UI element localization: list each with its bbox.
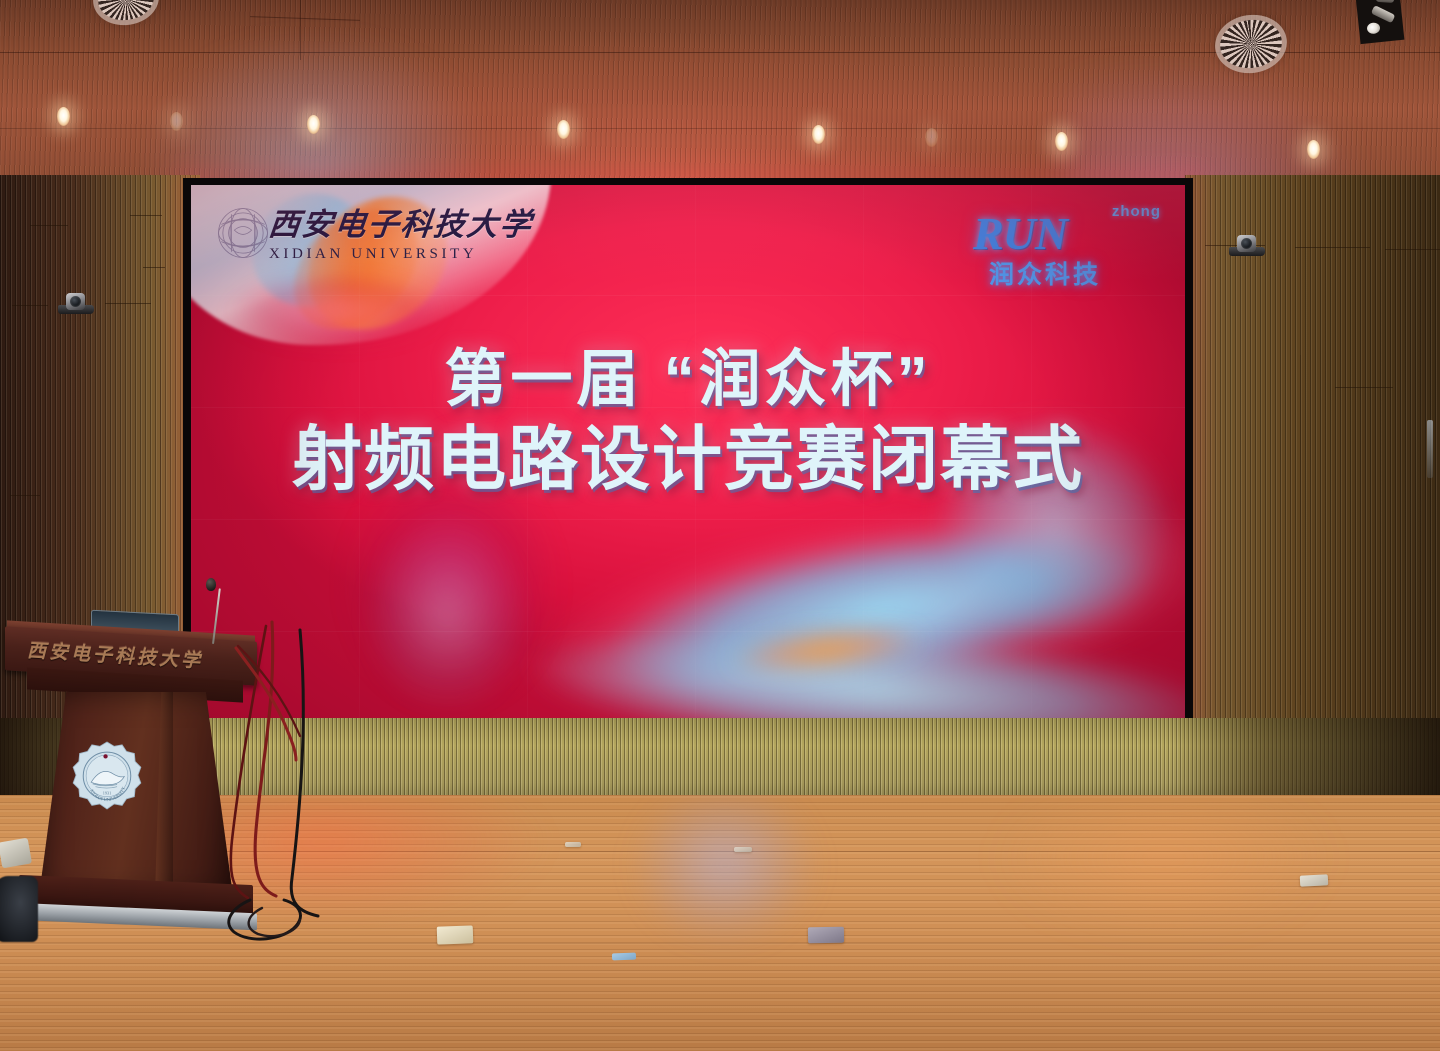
wall-seam — [1421, 175, 1422, 795]
wall-slat-texture — [1185, 175, 1440, 795]
coiled-cable — [249, 908, 300, 936]
ceiling-downlight — [557, 120, 570, 139]
ceiling-downlight — [1307, 140, 1320, 159]
auditorium-photo: 西安电子科技大学 XIDIAN UNIVERSITY RUN zhong 润众科… — [0, 0, 1440, 1051]
camera-lens-icon — [1241, 238, 1252, 249]
red-audio-cable — [236, 648, 296, 760]
foreground-dark-object — [0, 876, 38, 942]
ceiling — [0, 0, 1440, 182]
screen-drop-cable — [230, 640, 400, 760]
ceiling-downlight — [307, 115, 320, 134]
floor-reflection-blue — [560, 795, 890, 985]
wall-seam — [1335, 387, 1393, 388]
ceiling-downlight — [170, 112, 183, 131]
coiled-cable — [229, 900, 301, 939]
camera-lens-icon — [70, 296, 81, 307]
ceiling-downlight — [57, 107, 70, 126]
ceiling-downlight — [1055, 132, 1068, 151]
wall-seam — [12, 305, 48, 306]
wall-seam — [1385, 249, 1440, 250]
foreground-object — [0, 838, 32, 869]
spotlight-lamp — [1366, 22, 1380, 34]
wall-right — [1185, 175, 1440, 795]
red-audio-cable — [238, 646, 300, 736]
wall-seam — [1300, 355, 1301, 695]
wall-light-strip — [1427, 420, 1433, 478]
tape-marker — [734, 847, 752, 852]
stage-cables — [0, 560, 520, 980]
wall-seam — [105, 303, 151, 304]
wall-seam — [10, 495, 40, 496]
spotlight-arm — [1371, 5, 1396, 23]
ceiling-light-spill-right — [1060, 70, 1350, 182]
ptz-camera-left — [58, 293, 94, 319]
ceiling-downlight — [925, 128, 938, 147]
wall-seam — [1295, 247, 1370, 248]
ptz-camera-right — [1229, 235, 1265, 261]
wall-seam — [143, 267, 165, 268]
wall-seam — [30, 225, 68, 226]
ceiling-spotlight-slot — [1356, 0, 1405, 44]
ceiling-light-spill-left — [150, 40, 480, 182]
floor-reflection-warm — [980, 795, 1440, 1005]
floor-outlet-box — [1300, 874, 1329, 886]
wall-seam — [130, 215, 162, 216]
floor-outlet-box — [808, 927, 844, 944]
spotlight-arm — [1376, 0, 1394, 3]
tape-marker — [612, 953, 636, 961]
ceiling-downlight — [812, 125, 825, 144]
tape-marker — [565, 842, 581, 847]
